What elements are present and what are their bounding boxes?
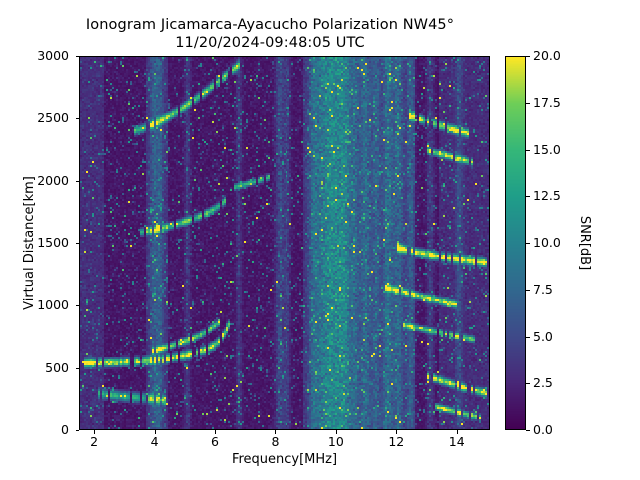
colorbar-label: SNR[dB] (577, 56, 592, 430)
x-tick-mark (94, 430, 95, 434)
ionogram-heatmap-canvas (80, 57, 490, 430)
colorbar-tick-label: 2.5 (533, 377, 553, 389)
y-tick-mark (76, 243, 80, 244)
x-tick-label: 6 (195, 435, 235, 448)
y-tick-mark (76, 430, 80, 431)
colorbar-tick-mark (526, 290, 530, 291)
y-tick-mark (76, 118, 80, 119)
x-tick-mark (457, 430, 458, 434)
colorbar-tick-label: 20.0 (533, 50, 561, 62)
y-tick-mark (76, 368, 80, 369)
ionogram-figure: Ionogram Jicamarca-Ayacucho Polarization… (0, 0, 640, 480)
colorbar-tick-label: 7.5 (533, 284, 553, 296)
y-tick-mark (76, 56, 80, 57)
colorbar-tick-mark (526, 337, 530, 338)
y-tick-mark (76, 305, 80, 306)
y-tick-mark (76, 181, 80, 182)
x-tick-label: 10 (316, 435, 356, 448)
colorbar-tick-label: 15.0 (533, 144, 561, 156)
y-tick-label: 2000 (37, 175, 69, 187)
y-tick-label: 500 (45, 362, 69, 374)
y-tick-label: 2500 (37, 112, 69, 124)
colorbar-tick-mark (526, 56, 530, 57)
x-tick-label: 12 (376, 435, 416, 448)
colorbar-tick-label: 17.5 (533, 97, 561, 109)
x-tick-mark (336, 430, 337, 434)
colorbar-gradient-canvas (506, 57, 525, 429)
colorbar-tick-mark (526, 103, 530, 104)
x-tick-mark (396, 430, 397, 434)
x-tick-mark (275, 430, 276, 434)
ionogram-plot-area (79, 56, 490, 430)
y-tick-label: 0 (61, 424, 69, 436)
y-axis-label: Virtual Distance[km] (22, 56, 37, 430)
x-tick-label: 2 (74, 435, 114, 448)
colorbar-tick-mark (526, 383, 530, 384)
y-tick-label: 1000 (37, 299, 69, 311)
colorbar-tick-mark (526, 150, 530, 151)
y-tick-label: 1500 (37, 237, 69, 249)
colorbar-tick-label: 12.5 (533, 190, 561, 202)
x-axis-label: Frequency[MHz] (79, 452, 490, 467)
x-tick-label: 14 (437, 435, 477, 448)
x-tick-label: 8 (255, 435, 295, 448)
colorbar-tick-label: 0.0 (533, 424, 553, 436)
y-tick-label: 3000 (37, 50, 69, 62)
title-line-2: 11/20/2024-09:48:05 UTC (0, 34, 540, 52)
colorbar-tick-label: 5.0 (533, 331, 553, 343)
x-tick-label: 4 (135, 435, 175, 448)
x-tick-mark (215, 430, 216, 434)
title-line-1: Ionogram Jicamarca-Ayacucho Polarization… (0, 16, 540, 34)
colorbar-tick-mark (526, 430, 530, 431)
x-tick-mark (155, 430, 156, 434)
colorbar-tick-mark (526, 243, 530, 244)
page-title: Ionogram Jicamarca-Ayacucho Polarization… (0, 16, 540, 52)
colorbar (505, 56, 526, 430)
colorbar-tick-label: 10.0 (533, 237, 561, 249)
colorbar-tick-mark (526, 196, 530, 197)
